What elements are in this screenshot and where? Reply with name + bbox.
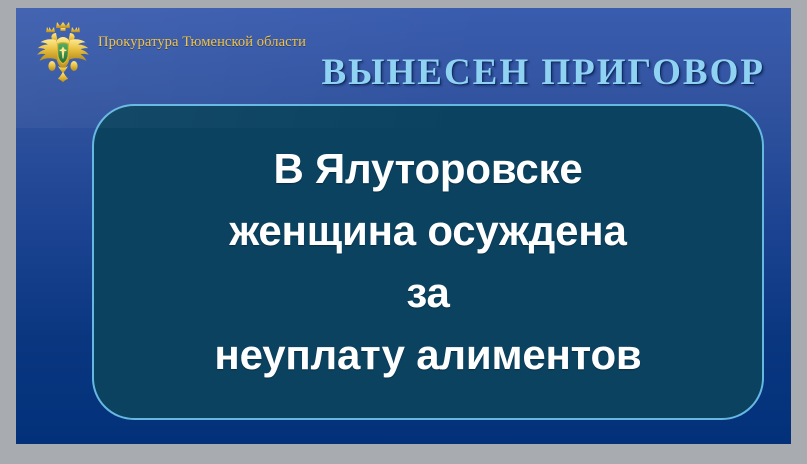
announcement-card: В Ялуторовске женщина осуждена за неупла… [92, 104, 764, 420]
announcement-line-3: за [94, 262, 762, 324]
announcement-text: В Ялуторовске женщина осуждена за неупла… [94, 138, 762, 386]
organization-name: Прокуратура Тюменской области [98, 34, 318, 51]
announcement-line-2: женщина осуждена [94, 200, 762, 262]
announcement-line-4: неуплату алиментов [94, 324, 762, 386]
russian-prosecutors-office-emblem-icon [32, 18, 94, 90]
announcement-line-1: В Ялуторовске [94, 138, 762, 200]
poster-header: Прокуратура Тюменской области ВЫНЕСЕН ПР… [16, 8, 791, 108]
poster-frame: Прокуратура Тюменской области ВЫНЕСЕН ПР… [0, 0, 807, 464]
page-title: ВЫНЕСЕН ПРИГОВОР [321, 52, 765, 94]
blue-panel: Прокуратура Тюменской области ВЫНЕСЕН ПР… [16, 8, 791, 444]
